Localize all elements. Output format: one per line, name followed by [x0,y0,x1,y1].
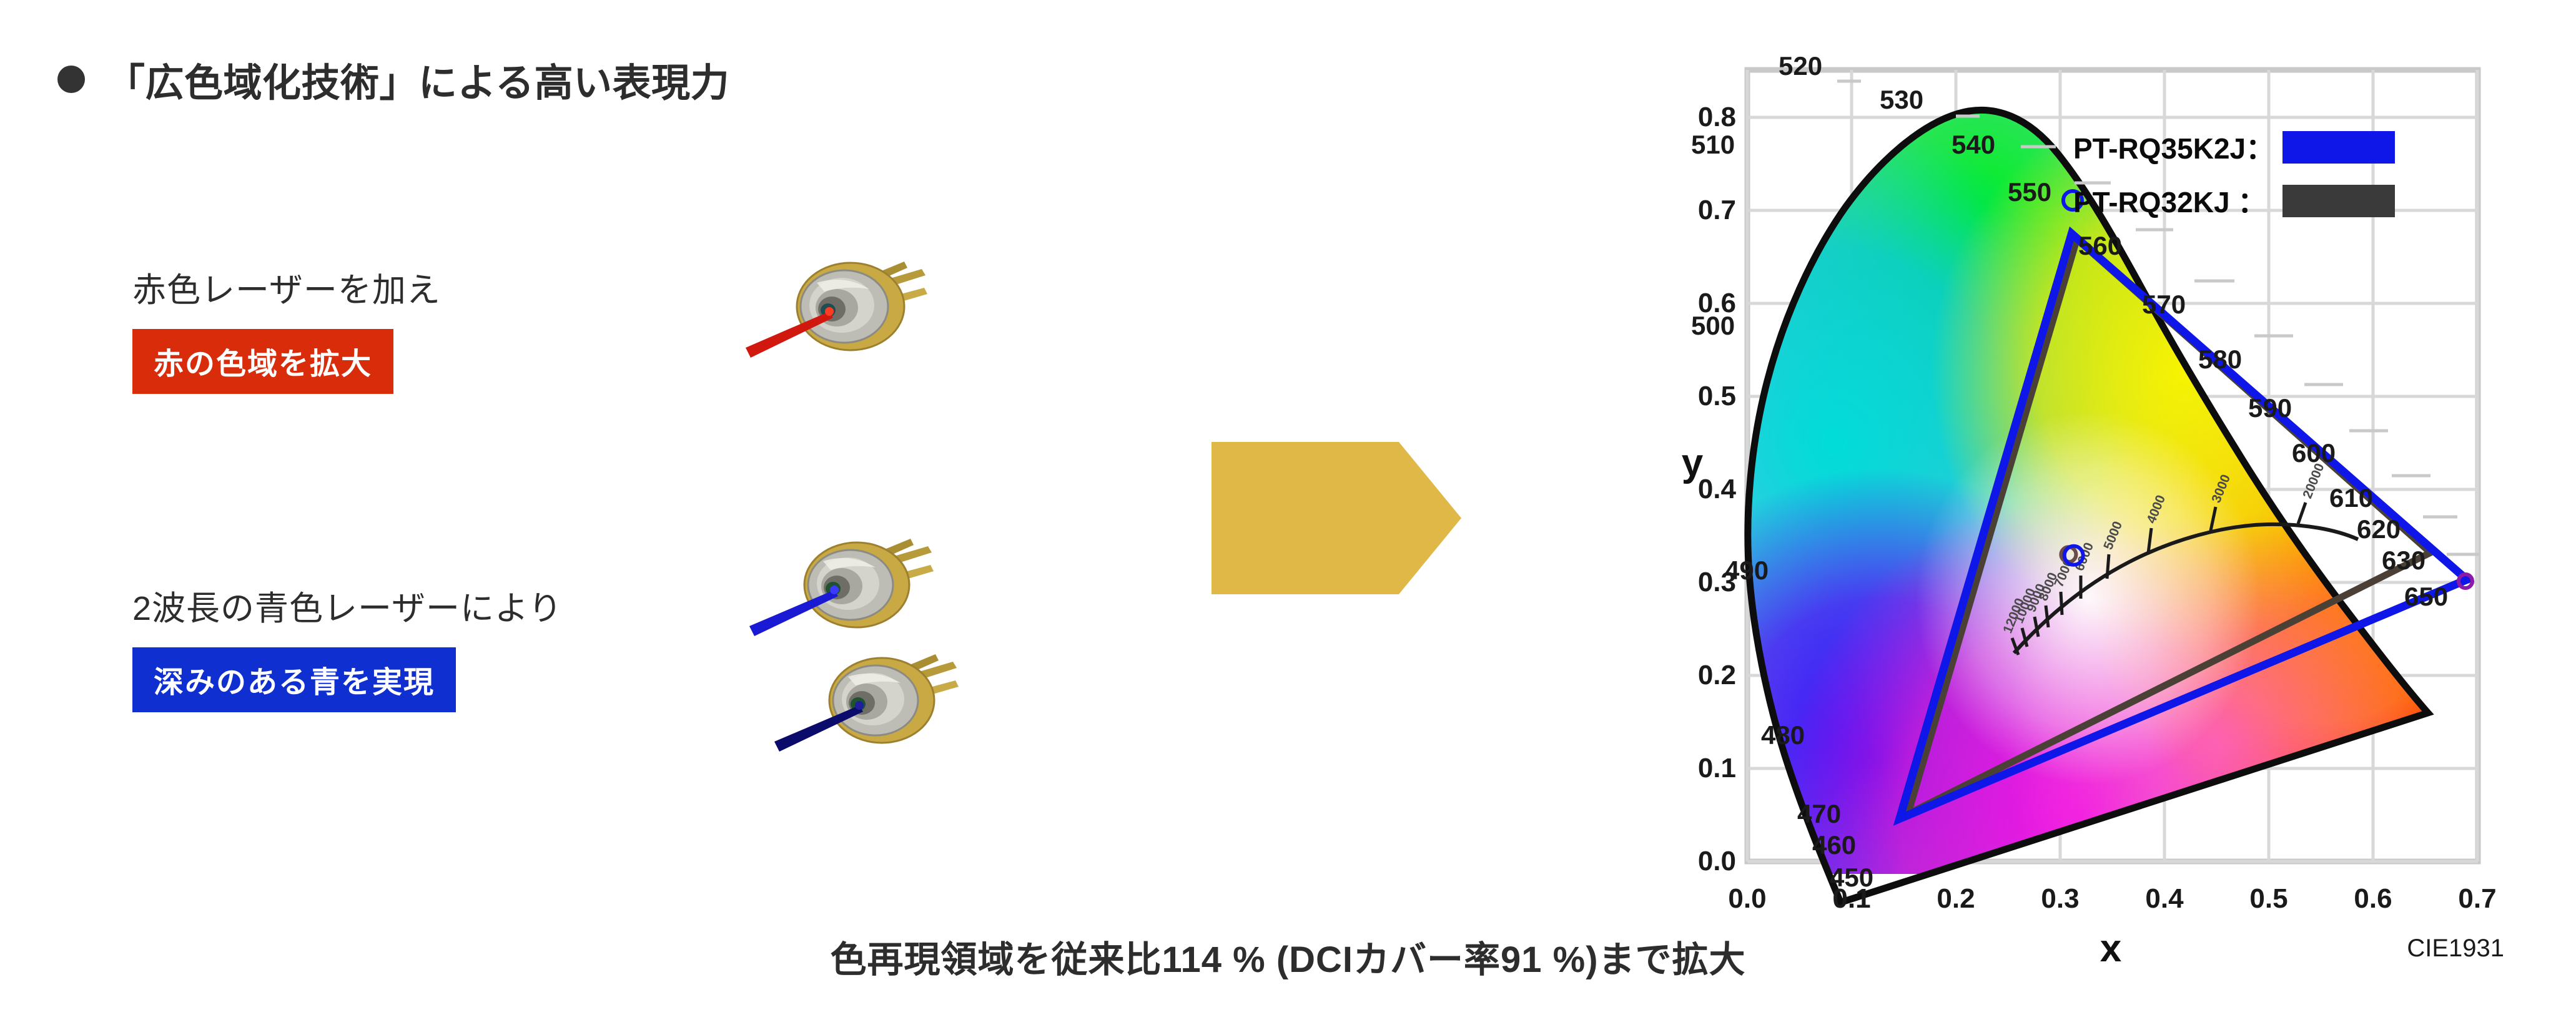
y-tick-0.2: 0.2 [1698,660,1736,690]
wavelength-label-550: 550 [2008,177,2051,207]
wavelength-label-480: 480 [1761,720,1805,750]
legend-label-pt-rq35k2j: PT-RQ35K2J： [2073,132,2274,165]
feature-block-red: 赤色レーザーを加え 赤の色域を拡大 [132,262,441,394]
wavelength-label-630: 630 [2382,546,2425,575]
wavelength-label-570: 570 [2142,290,2186,319]
y-axis-ticklabels: 0.8 0.7 0.6 0.5 0.4 0.3 0.2 0.1 0.0 [1698,102,1737,876]
x-tick-0.5: 0.5 [2249,883,2287,914]
wavelength-label-560: 560 [2078,231,2122,260]
y-tick-0.5: 0.5 [1698,381,1736,411]
y-tick-0.7: 0.7 [1698,195,1736,225]
bullet-icon [57,66,85,93]
x-tick-0.7: 0.7 [2458,883,2496,914]
page-headline: 「広色域化技術」による高い表現力 [57,51,729,107]
wavelength-label-510: 510 [1691,130,1735,159]
laser-diode-red [737,253,943,409]
y-tick-0.8: 0.8 [1698,102,1736,132]
y-tick-0.6: 0.6 [1698,288,1736,318]
feature-caption-red: 赤色レーザーを加え [132,262,441,311]
badge-blue-gamut: 深みのある青を実現 [132,647,456,712]
wavelength-label-580: 580 [2198,345,2242,374]
y-tick-0.3: 0.3 [1698,567,1736,597]
flow-arrow-icon [1212,437,1474,602]
wavelength-label-620: 620 [2357,514,2401,544]
x-tick-0.4: 0.4 [2145,883,2184,914]
wavelength-label-540: 540 [1952,130,1995,159]
feature-block-blue: 2波長の青色レーザーにより 深みのある青を実現 [132,581,563,712]
wavelength-label-590: 590 [2248,393,2292,423]
laser-diode-blue-2 [768,649,974,793]
badge-red-gamut: 赤の色域を拡大 [132,329,393,394]
x-tick-0.6: 0.6 [2354,883,2392,914]
wavelength-label-460: 460 [1812,830,1856,860]
y-tick-0.0: 0.0 [1698,846,1736,876]
wavelength-label-650: 650 [2404,582,2448,611]
legend-swatch-pt-rq35k2j [2282,131,2395,164]
wavelength-label-520: 520 [1779,51,1822,81]
y-tick-0.1: 0.1 [1698,753,1736,783]
wavelength-label-610: 610 [2329,483,2373,513]
bottom-caption: 色再現領域を従来比114 % (DCIカバー率91 %)まで拡大 [0,930,2576,983]
legend-swatch-pt-rq32kj [2282,185,2395,217]
cie1931-chromaticity-chart: 20000 3000 4000 5000 6000 7000 8000 9000… [1674,31,2548,968]
wavelength-label-600: 600 [2292,438,2336,468]
page-title: 「広色域化技術」による高い表現力 [106,51,729,107]
legend-label-pt-rq32kj: PT-RQ32KJ ： [2073,186,2266,218]
x-tick-0.0: 0.0 [1728,883,1766,914]
y-axis-label: y [1682,441,1704,484]
y-tick-0.4: 0.4 [1698,474,1737,504]
x-tick-0.3: 0.3 [2041,883,2079,914]
feature-caption-blue: 2波長の青色レーザーにより [132,581,563,630]
wavelength-label-470: 470 [1797,799,1841,828]
x-axis-ticklabels: 0.0 0.1 0.2 0.3 0.4 0.5 0.6 0.7 [1728,883,2496,914]
x-tick-0.1: 0.1 [1832,883,1870,914]
x-tick-0.2: 0.2 [1937,883,1975,914]
wavelength-label-530: 530 [1880,85,1923,114]
